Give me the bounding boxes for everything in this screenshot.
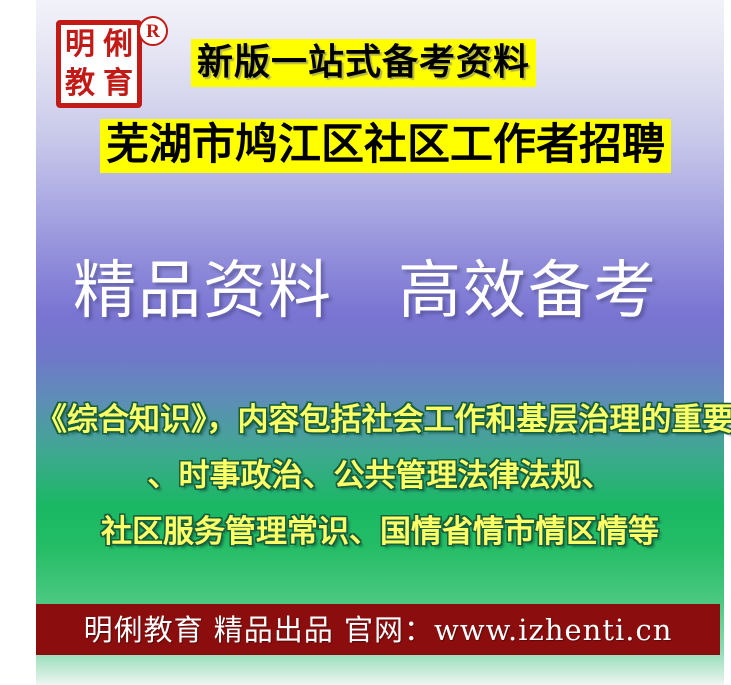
footer-website-text[interactable]: 明俐教育 精品出品 官网：www.izhenti.cn — [84, 613, 673, 647]
seal-char-4: 育 — [103, 69, 133, 99]
brand-logo[interactable]: 明 俐 教 育 R — [48, 12, 180, 116]
seal-char-3: 教 — [65, 69, 95, 99]
seal-stamp-icon: 明 俐 教 育 — [56, 20, 142, 108]
description-block: 《综合知识》，内容包括社会工作和基层治理的重要论述 、时事政治、公共管理法律法规… — [36, 392, 724, 560]
footer-bar: 明俐教育 精品出品 官网：www.izhenti.cn — [36, 604, 720, 655]
promo-poster: 明 俐 教 育 R 新版一站式备考资料 芜湖市鸠江区社区工作者招聘 精品资料 高… — [0, 0, 731, 685]
slogan-text: 精品资料 高效备考 — [0, 252, 731, 330]
headline-title: 芜湖市鸠江区社区工作者招聘 — [100, 119, 671, 173]
description-line: 社区服务管理常识、国情省情市情区情等 — [36, 504, 724, 560]
registered-trademark-icon: R — [138, 16, 168, 46]
description-line: 《综合知识》，内容包括社会工作和基层治理的重要论述 — [36, 392, 724, 448]
seal-char-1: 明 — [65, 30, 95, 60]
seal-char-2: 俐 — [103, 30, 133, 60]
headline-subtitle: 新版一站式备考资料 — [191, 39, 536, 87]
description-line: 、时事政治、公共管理法律法规、 — [36, 448, 724, 504]
